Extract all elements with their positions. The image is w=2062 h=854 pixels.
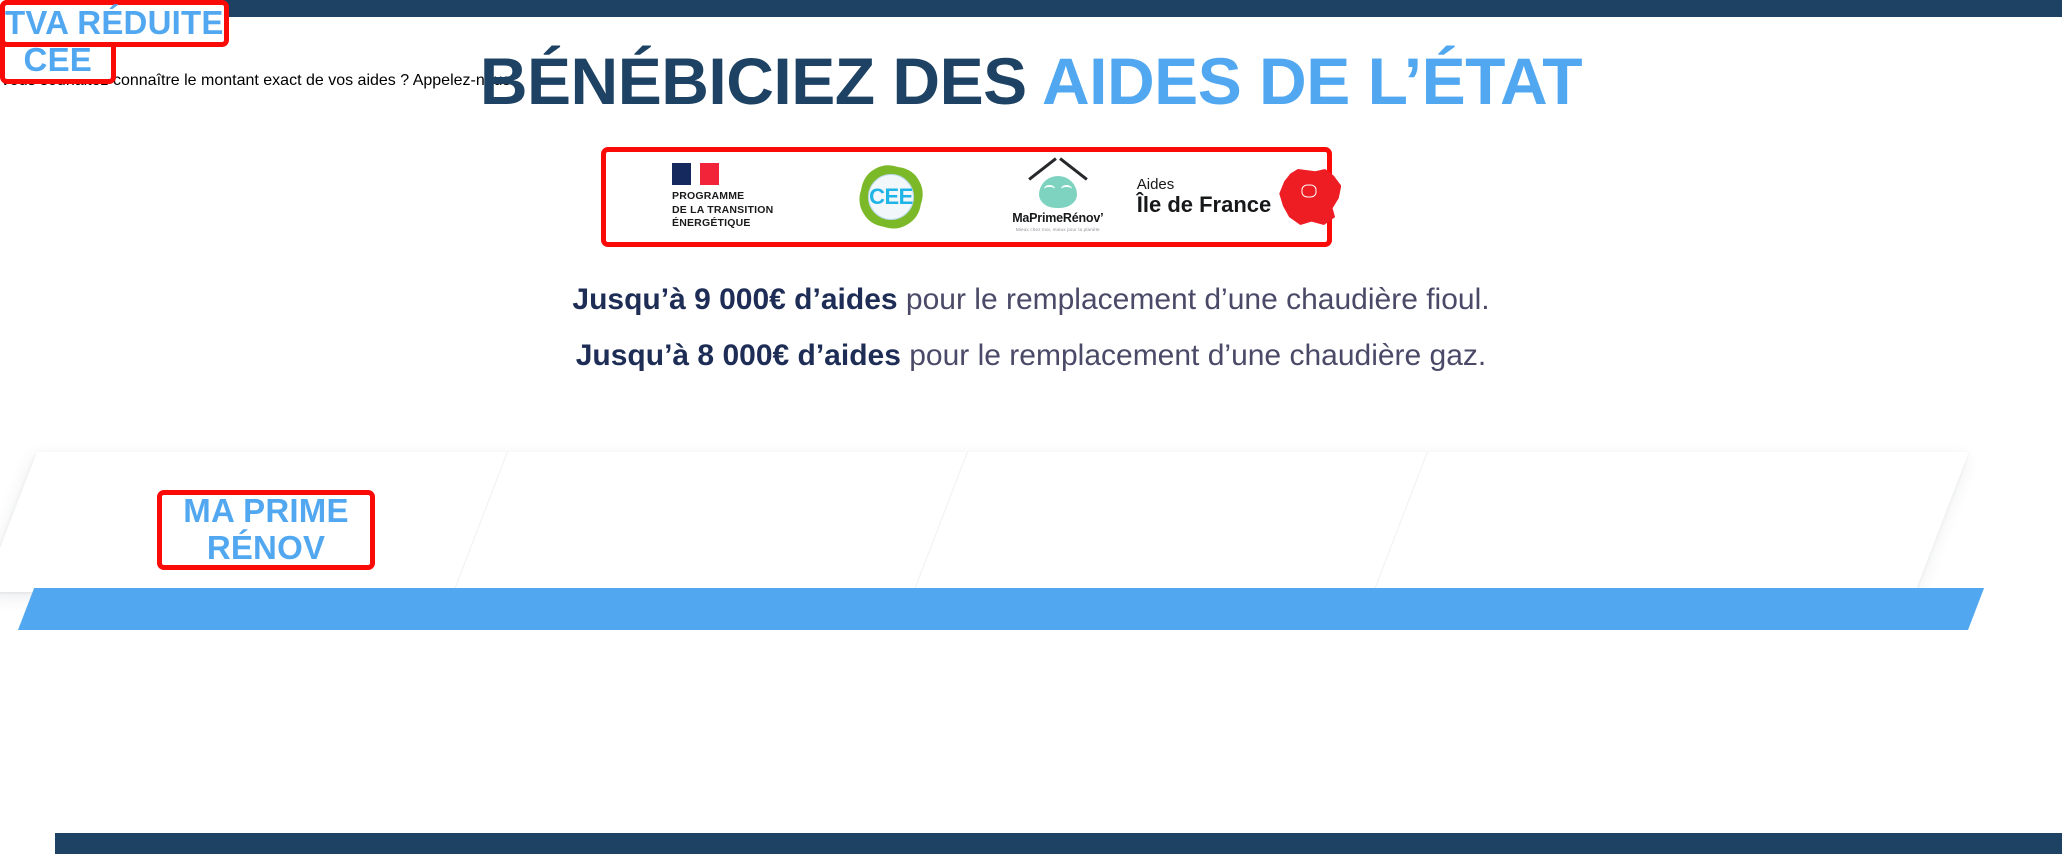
partner-logo-strip: PROGRAMME DE LA TRANSITION ÉNERGÉTIQUE C… xyxy=(601,147,1332,247)
house-smiley-icon xyxy=(1019,162,1097,208)
aid-amount-bold-gaz: Jusqu’à 8 000€ d’aides xyxy=(576,339,901,372)
page-title: BÉNÉBICIEZ DES AIDES DE L’ÉTAT xyxy=(0,48,2062,114)
cee-badge-icon: CEE xyxy=(861,167,921,227)
page-title-dark-part: BÉNÉBICIEZ DES xyxy=(480,44,1042,118)
idf-line-2: Île de France xyxy=(1137,193,1272,217)
page-title-blue-part: AIDES DE L’ÉTAT xyxy=(1042,44,1582,118)
aid-card-tva-reduite[interactable]: TVA RÉDUITE xyxy=(0,0,229,47)
aid-card-0-line-2: RÉNOV xyxy=(207,529,325,566)
aides-etat-page: BÉNÉBICIEZ DES AIDES DE L’ÉTAT PROGRAMME… xyxy=(0,0,2062,854)
ile-de-france-map-icon xyxy=(1279,169,1341,225)
aid-amount-bold-fioul: Jusqu’à 9 000€ d’aides xyxy=(572,283,897,316)
aid-amount-line-fioul: Jusqu’à 9 000€ d’aides pour le remplacem… xyxy=(0,283,2062,317)
programme-line-2: DE LA TRANSITION xyxy=(672,204,773,217)
aid-amount-rest-gaz: pour le remplacement d’une chaudière gaz… xyxy=(901,339,1486,372)
french-flag-icon xyxy=(672,163,773,185)
aid-card-0-line-1: MA PRIME xyxy=(183,492,348,529)
aid-amount-rest-fioul: pour le remplacement d’une chaudière fio… xyxy=(898,283,1490,316)
logo-programme-transition-energetique: PROGRAMME DE LA TRANSITION ÉNERGÉTIQUE xyxy=(606,152,817,242)
top-accent-bar xyxy=(55,0,2062,17)
logo-maprimerenov: MaPrimeRénov’ Mieux chez moi, mieux pour… xyxy=(965,152,1151,242)
maprimerenov-tagline: Mieux chez moi, mieux pour la planète xyxy=(1012,227,1103,232)
bottom-accent-bar xyxy=(55,833,2062,854)
programme-line-3: ÉNERGÉTIQUE xyxy=(672,217,773,230)
ribbon-blue-bar xyxy=(18,588,1984,630)
maprimerenov-name: MaPrimeRénov’ xyxy=(1012,211,1103,225)
programme-line-1: PROGRAMME xyxy=(672,190,773,203)
aid-amount-line-gaz: Jusqu’à 8 000€ d’aides pour le remplacem… xyxy=(0,339,2062,373)
aid-card-3-line-1: TVA RÉDUITE xyxy=(5,5,224,42)
expand-button-prime-cee[interactable]: + xyxy=(0,18,2062,36)
logo-cee: CEE xyxy=(817,152,964,242)
idf-line-1: Aides xyxy=(1137,177,1272,193)
aid-card-ma-prime-renov[interactable]: MA PRIME RÉNOV xyxy=(157,490,375,570)
logo-aides-ile-de-france: Aides Île de France xyxy=(1151,152,1327,242)
cee-label: CEE xyxy=(869,184,913,210)
